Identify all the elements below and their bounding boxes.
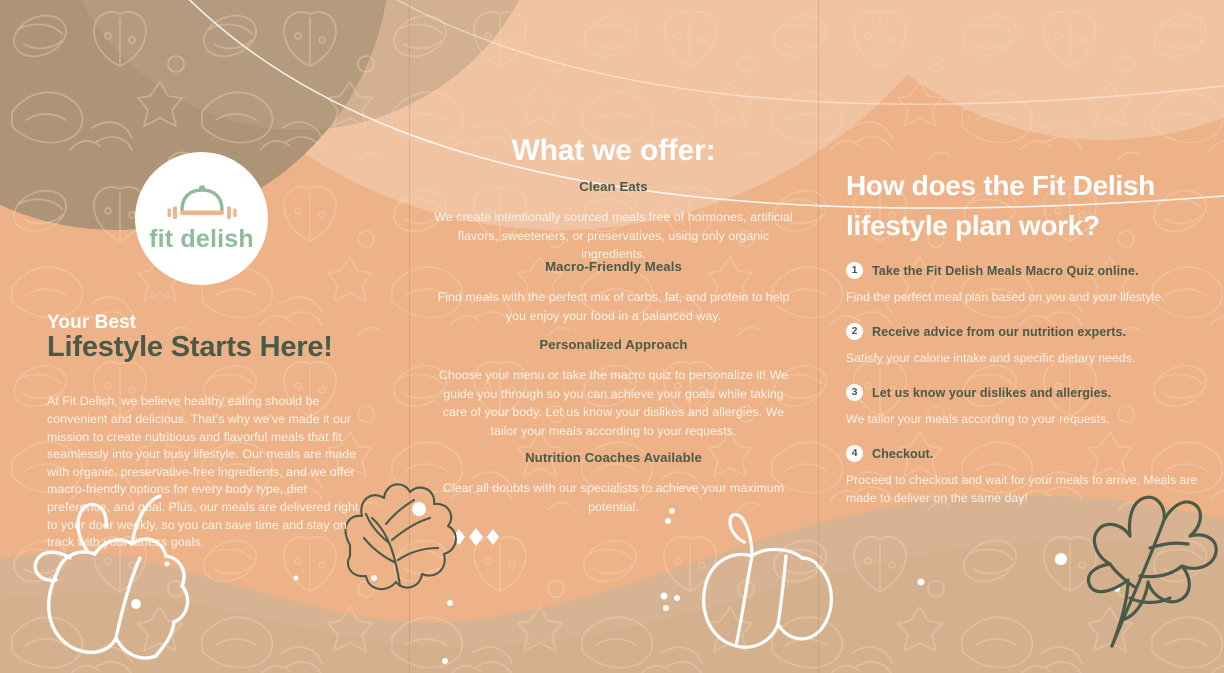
left-body-paragraph: At Fit Delish, we believe healthy eating… — [47, 393, 365, 551]
offer-title: Clean Eats — [433, 179, 794, 194]
offer-item: Macro-Friendly Meals Find meals with the… — [433, 259, 794, 325]
brochure-canvas: fit delish Your Best Lifestyle Starts He… — [0, 0, 1224, 673]
offer-body: Find meals with the perfect mix of carbs… — [433, 288, 794, 325]
step-number-badge: 2 — [846, 323, 863, 340]
step-body: We tailor your meals according to your r… — [846, 410, 1202, 428]
step-title: Let us know your dislikes and allergies. — [872, 386, 1111, 400]
logo-wordmark: fit delish — [149, 225, 254, 254]
offer-body: Choose your menu or take the macro quiz … — [433, 366, 794, 440]
step-item: 4 Checkout. Proceed to checkout and wait… — [846, 445, 1202, 507]
offer-item: Clean Eats We create intentionally sourc… — [433, 179, 794, 264]
step-item: 3 Let us know your dislikes and allergie… — [846, 384, 1202, 428]
step-item: 1 Take the Fit Delish Meals Macro Quiz o… — [846, 262, 1202, 306]
offer-body: Clear all doubts with our specialists to… — [433, 479, 794, 516]
step-number-badge: 3 — [846, 384, 863, 401]
panel-right: How does the Fit Delish lifestyle plan w… — [818, 0, 1224, 673]
left-headline: Lifestyle Starts Here! — [47, 332, 387, 364]
offer-title: Nutrition Coaches Available — [433, 450, 794, 465]
offer-item: Personalized Approach Choose your menu o… — [433, 337, 794, 440]
step-header: 4 Checkout. — [846, 445, 1202, 462]
step-item: 2 Receive advice from our nutrition expe… — [846, 323, 1202, 367]
step-title: Take the Fit Delish Meals Macro Quiz onl… — [872, 264, 1139, 278]
panel-left: fit delish Your Best Lifestyle Starts He… — [0, 0, 409, 673]
step-title: Checkout. — [872, 447, 933, 461]
step-body: Proceed to checkout and wait for your me… — [846, 471, 1202, 507]
step-header: 3 Let us know your dislikes and allergie… — [846, 384, 1202, 401]
center-headline: What we offer: — [409, 134, 818, 168]
offer-item: Nutrition Coaches Available Clear all do… — [433, 450, 794, 516]
offer-title: Personalized Approach — [433, 337, 794, 352]
step-title: Receive advice from our nutrition expert… — [872, 325, 1126, 339]
logo-badge: fit delish — [135, 152, 268, 285]
step-header: 2 Receive advice from our nutrition expe… — [846, 323, 1202, 340]
offer-body: We create intentionally sourced meals fr… — [433, 208, 794, 264]
step-body: Satisfy your calorie intake and specific… — [846, 349, 1202, 367]
step-number-badge: 1 — [846, 262, 863, 279]
right-headline: How does the Fit Delish lifestyle plan w… — [846, 166, 1206, 246]
step-number-badge: 4 — [846, 445, 863, 462]
step-header: 1 Take the Fit Delish Meals Macro Quiz o… — [846, 262, 1202, 279]
panel-center: What we offer: Clean Eats We create inte… — [409, 0, 818, 673]
step-body: Find the perfect meal plan based on you … — [846, 288, 1202, 306]
cloche-dumbbell-icon — [156, 184, 248, 224]
offer-title: Macro-Friendly Meals — [433, 259, 794, 274]
